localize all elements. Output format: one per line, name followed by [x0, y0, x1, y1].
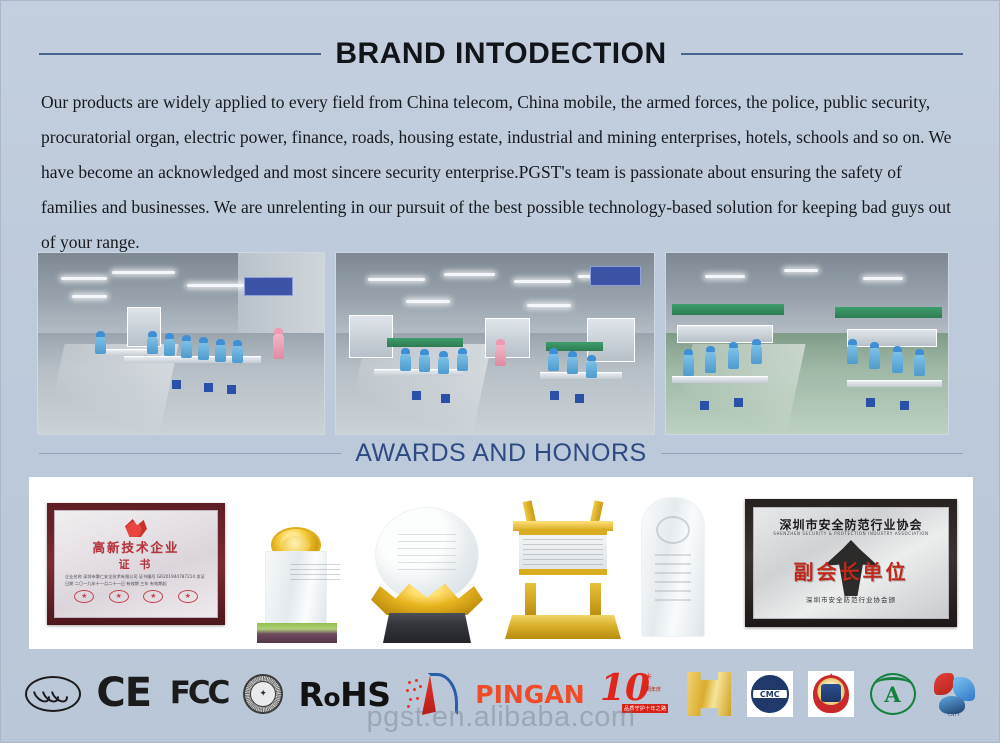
security-association-plaque: 深圳市安全防范行业协会 SHENZHEN SECURITY & PROTECTI… — [745, 499, 957, 627]
awards-rule-right — [661, 453, 963, 454]
award-item — [627, 477, 727, 649]
rohs-o: o — [323, 683, 340, 712]
pingan-n: N — [564, 680, 585, 709]
brand-section-heading: BRAND INTODECTION — [1, 37, 1000, 71]
awards-section-heading: AWARDS AND HONORS — [1, 438, 1000, 468]
pingan-logo-icon: PINGAN — [475, 680, 584, 709]
product-detail-page: BRAND INTODECTION Our products are widel… — [0, 0, 1000, 743]
gold-bracket-logo-icon — [687, 672, 731, 716]
star-icon: ✳ — [644, 672, 652, 683]
cntt-label: CNTT — [931, 713, 977, 718]
factory-photo-strip — [37, 252, 969, 435]
award-item — [247, 477, 357, 649]
golden-ding-censer — [505, 499, 621, 641]
pingan-a: A — [544, 680, 563, 709]
brand-description-text: Our products are widely applied to every… — [41, 85, 961, 260]
certificate-subheading: 证 书 — [55, 556, 217, 572]
certificate-seals — [67, 590, 205, 603]
rohs-r: R — [299, 675, 324, 714]
award-item — [497, 477, 627, 649]
anniversary-label: 周年庆 — [646, 686, 661, 693]
iso-seal-mark: ✦ — [243, 674, 283, 714]
rohs-hs: HS — [340, 675, 390, 714]
seal-icon — [143, 590, 163, 603]
rohs-logo-icon: RoHS — [299, 675, 391, 714]
high-tech-enterprise-certificate: 高新技术企业 证 书 企业名称 深圳市秉仁安全技术有限公司 证书编号 GR201… — [47, 503, 225, 625]
anniversary-number: 10 — [600, 670, 650, 706]
flame-emblem-icon — [125, 519, 147, 537]
crystal-tablet-trophy — [641, 497, 705, 637]
crystal-disc — [375, 507, 479, 603]
green-a-certification-logo-icon: A — [870, 673, 916, 715]
plaque-heading-en: SHENZHEN SECURITY & PROTECTION INDUSTRY … — [754, 531, 948, 536]
factory-photo-1 — [37, 252, 325, 435]
anniversary-band: 品质守护十年之路 — [622, 704, 668, 713]
cmc-badge-label: CMC — [747, 671, 793, 717]
awards-rule-left — [39, 453, 341, 454]
award-item: 深圳市安全防范行业协会 SHENZHEN SECURITY & PROTECTI… — [727, 477, 973, 649]
tenth-anniversary-logo-icon: 10 ✳ 周年庆 品质守护十年之路 — [600, 670, 672, 718]
factory-photo-3 — [665, 252, 949, 435]
award-item — [357, 477, 497, 649]
certificate-fields: 企业名称 深圳市秉仁安全技术有限公司 证书编号 GR201944787214 发… — [65, 573, 207, 587]
plaque-title: 副会长单位 — [754, 556, 948, 585]
plaque-issuer: 深圳市安全防范行业协会颁 — [754, 594, 948, 604]
police-security-badge-logo-icon — [808, 671, 854, 717]
certification-logo-row: CE FCC ✦ RoHS PINGAN 10 ✳ 周年庆 品质守护十年之路 — [25, 663, 977, 725]
iso-seal-logo-icon: ✦ — [243, 674, 283, 714]
cmc-badge-logo-icon: CMC — [747, 671, 793, 717]
factory-photo-2 — [335, 252, 655, 435]
pingan-ping: PING — [475, 680, 544, 709]
ccc-logo-icon — [25, 676, 81, 712]
heading-rule-right — [681, 53, 963, 55]
cntt-swirl-logo-icon: CNTT — [931, 671, 977, 717]
certificate-heading: 高新技术企业 — [55, 537, 217, 556]
fcc-logo-icon: FCC — [170, 677, 228, 711]
award-item: 高新技术企业 证 书 企业名称 深圳市秉仁安全技术有限公司 证书编号 GR201… — [29, 477, 247, 649]
pgst-sail-logo-icon — [406, 671, 460, 717]
heading-rule-left — [39, 53, 321, 55]
trophy-base — [383, 613, 471, 643]
seal-icon — [178, 590, 198, 603]
seal-icon — [74, 590, 94, 603]
awards-gallery: 高新技术企业 证 书 企业名称 深圳市秉仁安全技术有限公司 证书编号 GR201… — [29, 477, 973, 649]
awards-title: AWARDS AND HONORS — [355, 439, 646, 468]
page-title: BRAND INTODECTION — [335, 37, 666, 71]
acrylic-block — [265, 551, 327, 625]
trophy-base — [257, 623, 337, 643]
green-a-label: A — [870, 673, 916, 715]
ce-logo-icon: CE — [96, 674, 154, 714]
seal-icon — [109, 590, 129, 603]
